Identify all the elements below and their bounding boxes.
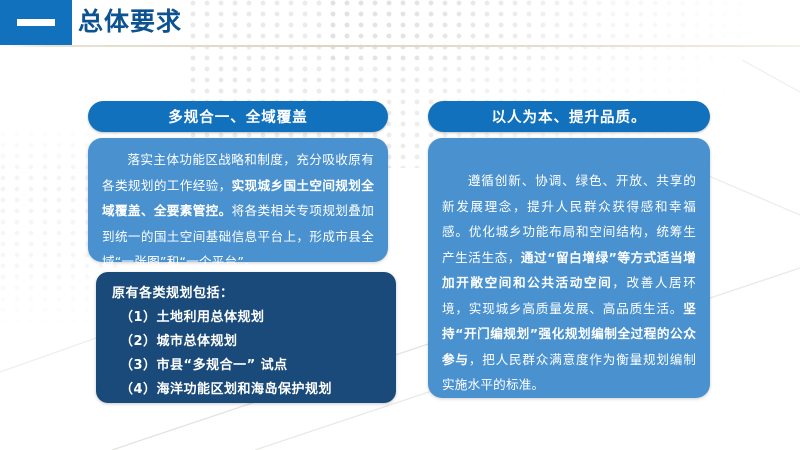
card-left-paragraph: 落实主体功能区战略和制度，充分吸收原有各类规划的工作经验，实现城乡国土空间规划全… (102, 147, 374, 275)
card-right-body: 遵循创新、协调、绿色、开放、共享的新发展理念，提升人民群众获得感和幸福感。优化城… (428, 138, 710, 398)
card-right-title-pill: 以人为本、提升品质。 (428, 101, 710, 132)
list-item: （1）土地利用总体规划 (112, 306, 396, 330)
slide-canvas: 总体要求 多规合一、全域覆盖 落实主体功能区战略和制度，充分吸收原有各类规划的工… (0, 0, 800, 450)
original-plans-list-box: 原有各类规划包括： （1）土地利用总体规划 （2）城市总体规划 （3）市县“多规… (96, 272, 396, 403)
list-item: （3）市县“多规合一” 试点 (112, 354, 396, 378)
number-one-icon (17, 19, 55, 26)
list-item: （4）海洋功能区划和海岛保护规划 (112, 378, 396, 402)
list-item: （2）城市总体规划 (112, 330, 396, 354)
background-dot-pattern-secondary (330, 0, 800, 60)
card-left-title-pill: 多规合一、全域覆盖 (88, 101, 388, 132)
card-left-body: 落实主体功能区战略和制度，充分吸收原有各类规划的工作经验，实现城乡国土空间规划全… (88, 138, 388, 262)
card-right-paragraph: 遵循创新、协调、绿色、开放、共享的新发展理念，提升人民群众获得感和幸福感。优化城… (442, 168, 696, 398)
header-number-block (0, 0, 72, 45)
list-heading: 原有各类规划包括： (112, 282, 396, 306)
header-divider-rule (0, 45, 800, 47)
page-title: 总体要求 (78, 6, 182, 38)
